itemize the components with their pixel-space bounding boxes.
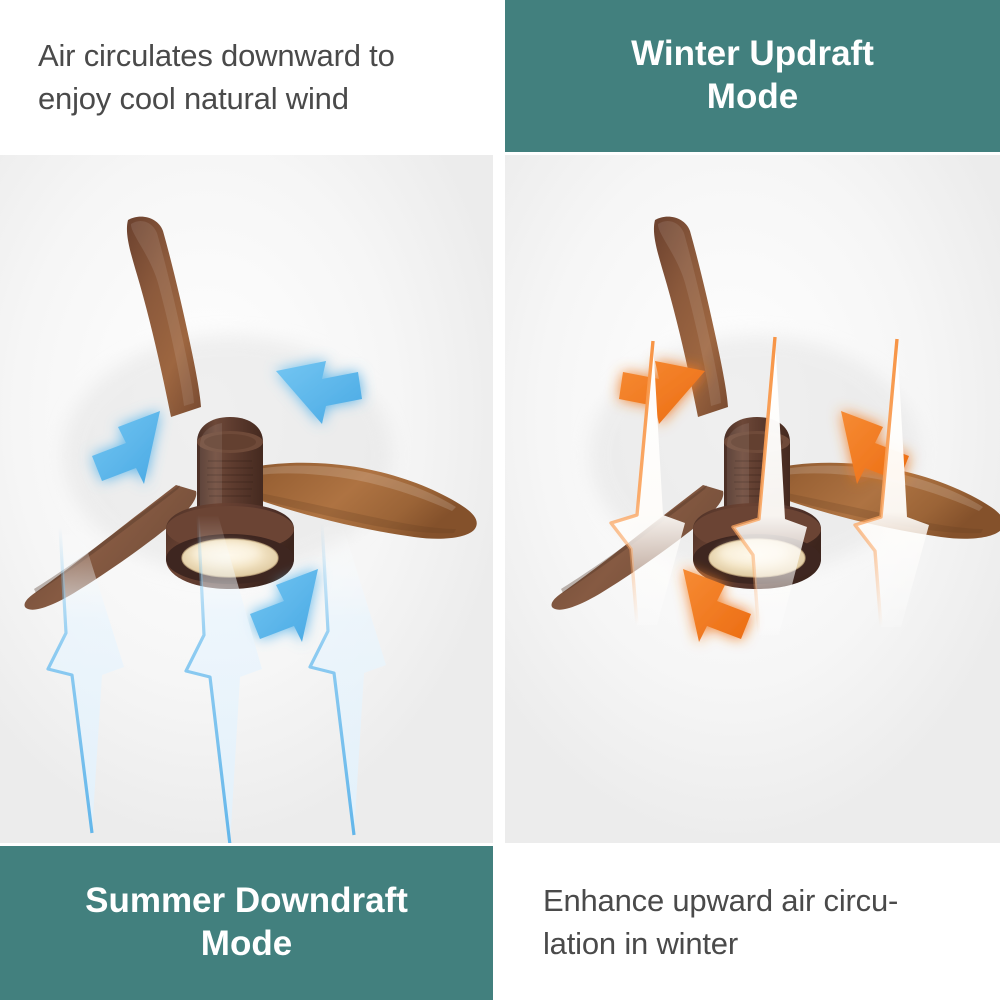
summer-mode-title: Summer Downdraft Mode [0, 846, 493, 1000]
top-left-caption-panel: Air circulates downward to enjoy cool na… [0, 0, 497, 155]
bottom-right-caption-panel: Enhance upward air circu- lation in wint… [505, 846, 1000, 1000]
top-left-caption-text: Air circulates downward to enjoy cool na… [0, 0, 497, 155]
summer-fan-svg [0, 155, 493, 843]
caption-line: Mode [201, 923, 292, 966]
winter-fan-svg [505, 155, 1000, 843]
top-right-caption-panel: Winter Updraft Mode [505, 0, 1000, 152]
bottom-left-caption-panel: Summer Downdraft Mode [0, 846, 493, 1000]
winter-mode-title: Winter Updraft Mode [505, 0, 1000, 152]
caption-line: Mode [707, 76, 798, 119]
caption-line: Winter Updraft [631, 33, 874, 76]
summer-downdraft-illustration [0, 155, 493, 843]
caption-line: Summer Downdraft [85, 880, 408, 923]
winter-updraft-illustration [505, 155, 1000, 843]
caption-line: Air circulates downward to [38, 35, 459, 78]
infographic-root: Air circulates downward to enjoy cool na… [0, 0, 1000, 1000]
bottom-right-caption-text: Enhance upward air circu- lation in wint… [505, 846, 1000, 1000]
caption-line: enjoy cool natural wind [38, 78, 459, 121]
caption-line: Enhance upward air circu- [543, 880, 962, 923]
caption-line: lation in winter [543, 923, 962, 966]
